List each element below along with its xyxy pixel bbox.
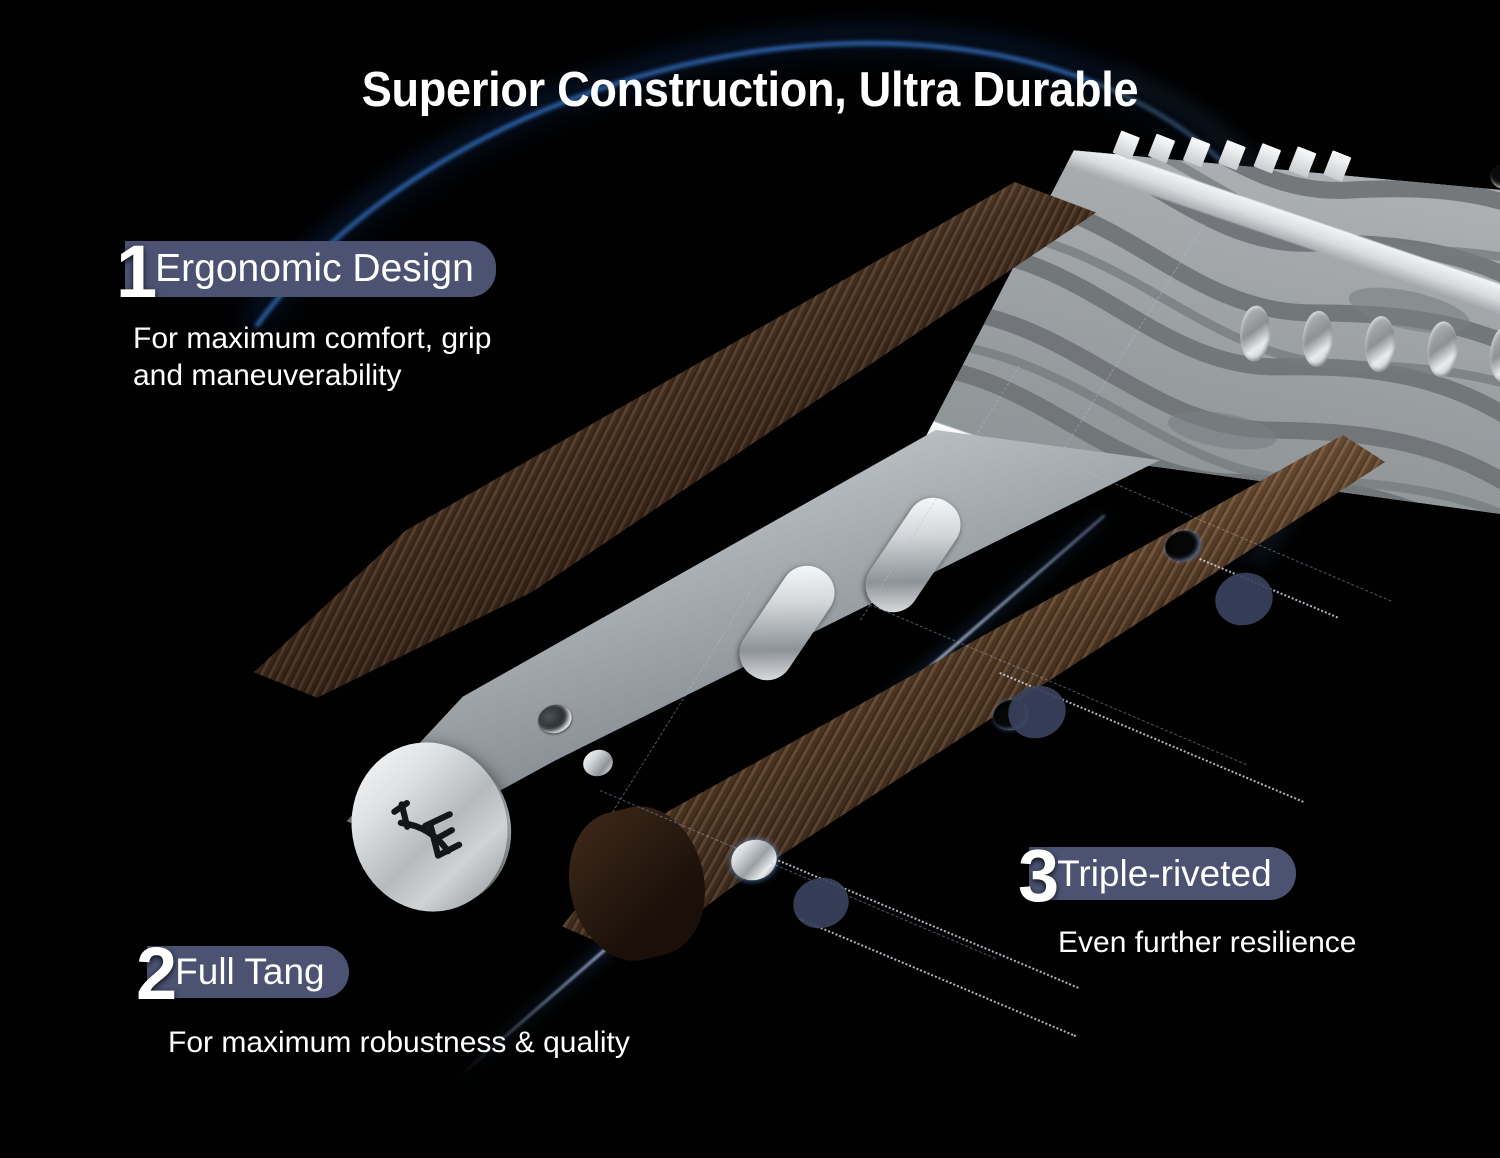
callout-3-header: 3 Triple-riveted: [1018, 842, 1356, 902]
callout-full-tang[interactable]: 2 Full Tang For maximum robustness & qua…: [136, 940, 630, 1061]
callout-2-description: For maximum robustness & quality: [168, 1024, 630, 1061]
page-title: Superior Construction, Ultra Durable: [60, 62, 1440, 118]
callout-ergonomic-design[interactable]: 1 Ergonomic Design For maximum comfort, …: [116, 238, 496, 394]
callout-1-number: 1: [116, 238, 155, 306]
callout-2-header: 2 Full Tang: [136, 940, 630, 1000]
callout-2-label[interactable]: Full Tang: [147, 946, 348, 998]
blade-hole: [1489, 162, 1500, 191]
infographic-canvas: Superior Construction, Ultra Durable: [0, 0, 1500, 1158]
callout-triple-riveted[interactable]: 3 Triple-riveted Even further resilience: [1018, 842, 1356, 961]
callout-2-number: 2: [136, 940, 175, 1008]
callout-3-description: Even further resilience: [1058, 924, 1356, 961]
callout-3-number: 3: [1018, 842, 1057, 910]
callout-3-label[interactable]: Triple-riveted: [1029, 847, 1296, 900]
callout-1-description: For maximum comfort, grip and maneuverab…: [133, 320, 496, 394]
callout-1-header: 1 Ergonomic Design: [116, 238, 496, 298]
callout-1-label[interactable]: Ergonomic Design: [125, 241, 496, 297]
